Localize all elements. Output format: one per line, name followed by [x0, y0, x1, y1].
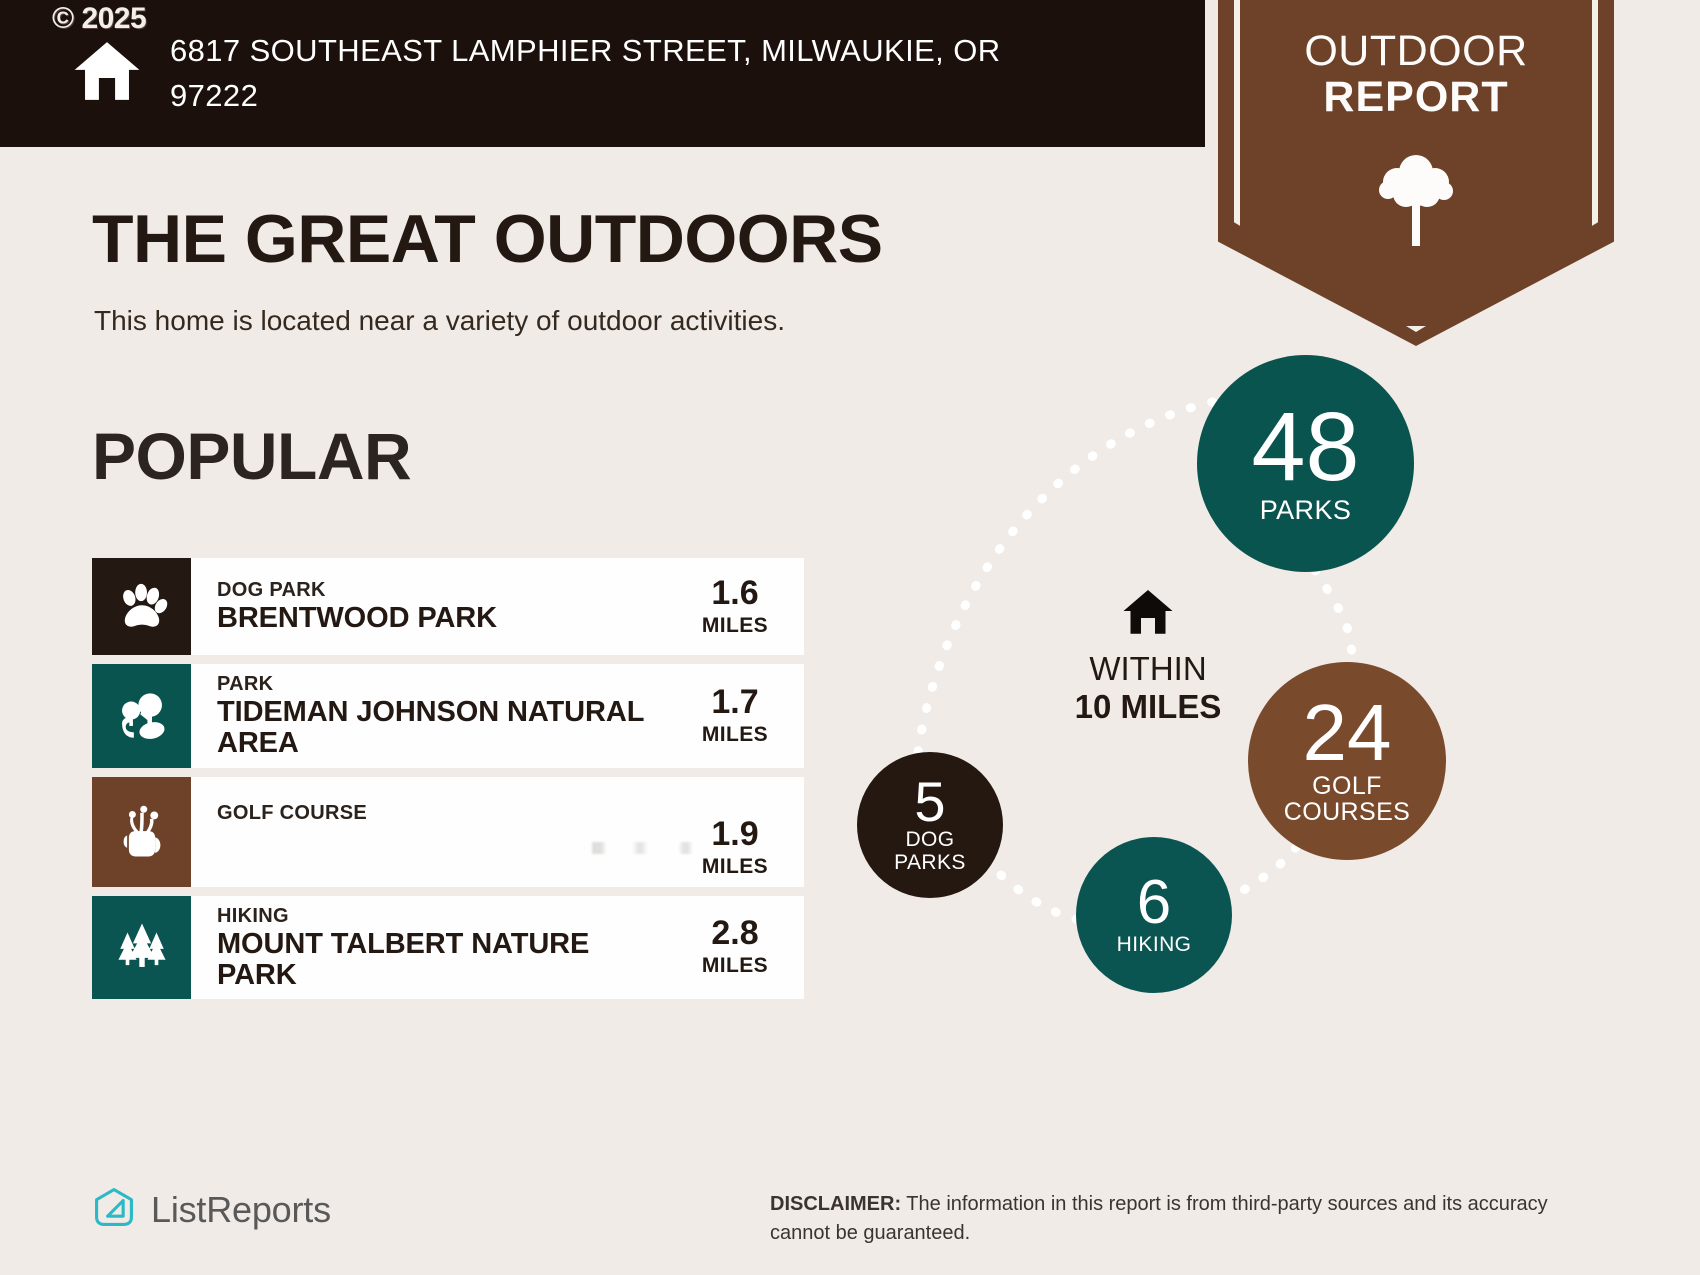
header-bar: © 2025 6817 Southeast Lamphier Street, M… — [0, 0, 1205, 147]
list-item[interactable]: GOLF COURSE 1.9 MILES — [92, 777, 804, 887]
distance-unit: MILES — [686, 614, 784, 638]
list-item-category: PARK — [217, 672, 686, 697]
listreports-wordmark: ListReports — [151, 1189, 331, 1231]
distance-value: 2.8 — [686, 916, 784, 950]
list-item[interactable]: HIKING MOUNT TALBERT NATURE PARK 2.8 MIL… — [92, 896, 804, 1000]
disclaimer-label: DISCLAIMER: — [770, 1193, 901, 1215]
stat-bubble-dog-parks[interactable]: 5 DOG PARKS — [857, 752, 1003, 898]
within-10-miles-diagram: 48 PARKS 24 GOLF COURSES 5 DOG PARKS 6 H… — [905, 355, 1605, 1055]
stat-label-line1: GOLF — [1284, 773, 1410, 800]
popular-list: DOG PARK BRENTWOOD PARK 1.6 MILES — [92, 558, 804, 1008]
golf-bag-icon — [92, 777, 191, 887]
stat-label-line2: COURSES — [1284, 799, 1410, 826]
section-heading-popular: POPULAR — [92, 418, 411, 494]
list-item-category: HIKING — [217, 904, 686, 929]
list-item-body: DOG PARK BRENTWOOD PARK 1.6 MILES — [191, 558, 804, 655]
center-label-line2: 10 MILES — [1038, 688, 1258, 726]
stat-bubble-golf-courses[interactable]: 24 GOLF COURSES — [1248, 662, 1446, 860]
center-label-line1: WITHIN — [1038, 650, 1258, 688]
stat-label: PARKS — [1260, 496, 1352, 525]
disclaimer: DISCLAIMER: The information in this repo… — [770, 1190, 1570, 1248]
list-item-name: TIDEMAN JOHNSON NATURAL AREA — [217, 697, 672, 760]
stat-value: 48 — [1252, 402, 1360, 491]
diagram-center-label: WITHIN 10 MILES — [1038, 583, 1258, 726]
stat-value: 5 — [914, 776, 945, 828]
park-trees-icon — [92, 664, 191, 768]
badge-title-line2: REPORT — [1218, 74, 1614, 120]
list-item-name: BRENTWOOD PARK — [217, 603, 672, 634]
badge-title-line1: OUTDOOR — [1218, 28, 1614, 74]
stat-value: 24 — [1303, 696, 1392, 770]
stat-label: GOLF COURSES — [1284, 773, 1410, 827]
list-item-distance: 1.9 MILES — [686, 801, 798, 879]
page-subtitle: This home is located near a variety of o… — [94, 305, 785, 337]
page-title: THE GREAT OUTDOORS — [92, 200, 883, 278]
list-item-distance: 1.7 MILES — [686, 685, 798, 747]
pine-trees-icon — [92, 896, 191, 1000]
list-item-body: PARK TIDEMAN JOHNSON NATURAL AREA 1.7 MI… — [191, 664, 804, 768]
redacted-name-artifact — [592, 842, 712, 854]
list-item-name: MOUNT TALBERT NATURE PARK — [217, 929, 672, 992]
listreports-logo[interactable]: ListReports — [92, 1185, 331, 1234]
list-item-body: HIKING MOUNT TALBERT NATURE PARK 2.8 MIL… — [191, 896, 804, 1000]
copyright-watermark: © 2025 — [52, 2, 146, 36]
home-icon — [70, 34, 144, 113]
list-item-body: GOLF COURSE 1.9 MILES — [191, 777, 804, 887]
stat-bubble-hiking[interactable]: 6 HIKING — [1076, 837, 1232, 993]
home-icon — [1038, 583, 1258, 644]
list-item-category: DOG PARK — [217, 578, 686, 603]
stat-value: 6 — [1137, 874, 1171, 931]
stat-label-line2: PARKS — [894, 852, 966, 874]
list-item[interactable]: DOG PARK BRENTWOOD PARK 1.6 MILES — [92, 558, 804, 655]
list-item[interactable]: PARK TIDEMAN JOHNSON NATURAL AREA 1.7 MI… — [92, 664, 804, 768]
stat-label-line1: DOG — [894, 829, 966, 851]
listreports-house-tag-icon — [92, 1185, 136, 1234]
list-item-distance: 1.6 MILES — [686, 576, 798, 638]
distance-value: 1.6 — [686, 576, 784, 610]
outdoor-report-badge: OUTDOOR REPORT — [1218, 0, 1614, 346]
stat-label: DOG PARKS — [894, 829, 966, 874]
stat-label: HIKING — [1117, 934, 1192, 956]
distance-value: 1.7 — [686, 685, 784, 719]
property-address: 6817 Southeast Lamphier Street, Milwauki… — [170, 29, 1070, 119]
paw-print-icon — [92, 558, 191, 655]
distance-unit: MILES — [686, 954, 784, 978]
tree-icon — [1373, 146, 1459, 255]
list-item-distance: 2.8 MILES — [686, 916, 798, 978]
badge-title: OUTDOOR REPORT — [1218, 28, 1614, 120]
stat-bubble-parks[interactable]: 48 PARKS — [1197, 355, 1414, 572]
list-item-category: GOLF COURSE — [217, 801, 686, 826]
distance-unit: MILES — [686, 723, 784, 747]
distance-unit: MILES — [686, 855, 784, 879]
